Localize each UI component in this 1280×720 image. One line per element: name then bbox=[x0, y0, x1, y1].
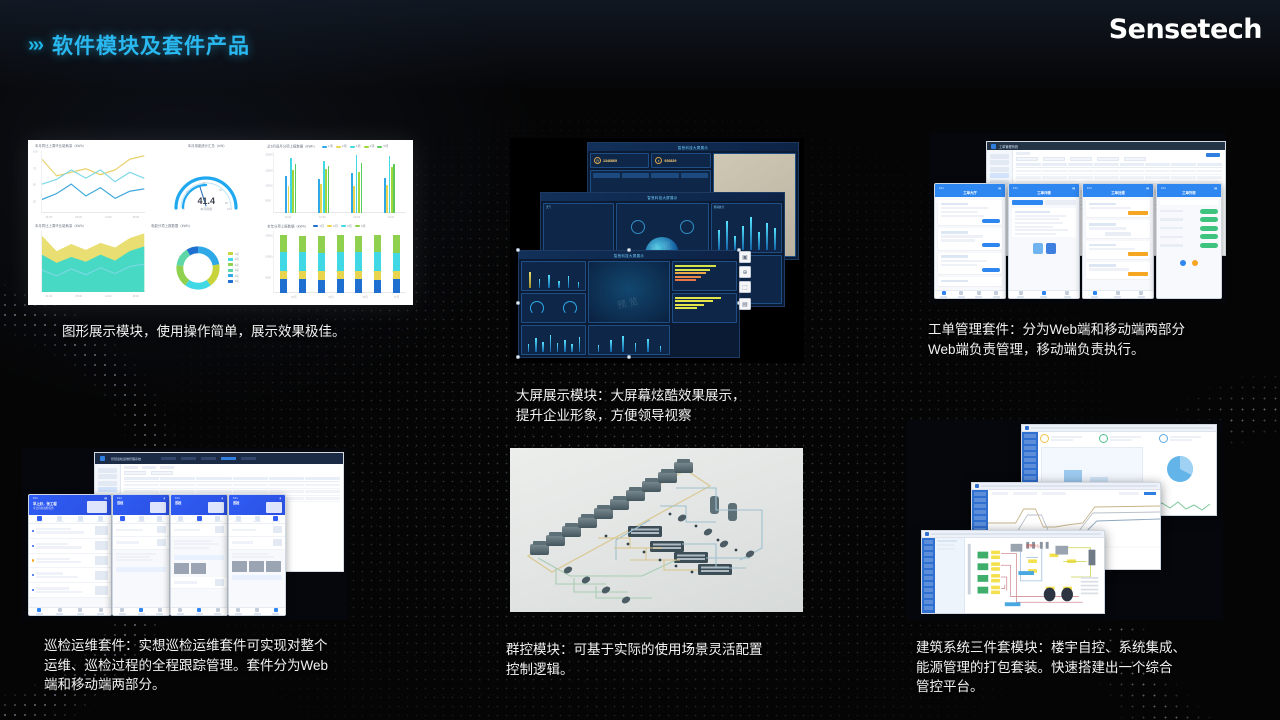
tab-orders[interactable] bbox=[1106, 291, 1129, 298]
zoom-tool-icon[interactable]: ⊕ bbox=[739, 266, 751, 278]
nav-item[interactable] bbox=[201, 457, 216, 460]
x-tick: 06:00 bbox=[75, 216, 82, 219]
confirm-icon[interactable] bbox=[1180, 260, 1186, 266]
map-panel bbox=[588, 261, 670, 323]
mobile-tabbar[interactable] bbox=[1009, 290, 1079, 298]
list-item[interactable] bbox=[229, 537, 285, 550]
mobile-header: 9:41▮ 巡检 bbox=[229, 495, 285, 515]
thumbnail bbox=[95, 571, 108, 580]
secondary-button[interactable] bbox=[1105, 232, 1131, 236]
tab-task[interactable] bbox=[190, 608, 209, 615]
tab-tasks[interactable] bbox=[132, 515, 151, 523]
bar-segment bbox=[280, 271, 287, 280]
primary-action-button[interactable] bbox=[1206, 153, 1220, 157]
selection-handle[interactable] bbox=[516, 248, 520, 252]
mobile-tabbar[interactable] bbox=[29, 607, 111, 615]
tab-more[interactable] bbox=[91, 515, 112, 523]
status-bar: 9:41▮▮ bbox=[939, 187, 1001, 190]
kpi-2: ◐926829 bbox=[652, 154, 709, 167]
bar-panel: 能耗统计 bbox=[711, 203, 782, 253]
tab-records[interactable] bbox=[70, 515, 91, 523]
photo-thumb[interactable] bbox=[249, 561, 264, 572]
list-item[interactable] bbox=[171, 577, 227, 590]
x-tick: 12:00 bbox=[105, 295, 112, 298]
mobile-body bbox=[1009, 197, 1079, 257]
action-row[interactable] bbox=[1160, 260, 1218, 266]
filter-bar[interactable] bbox=[124, 471, 340, 475]
toolbar[interactable] bbox=[988, 490, 1160, 497]
mobile-tabs[interactable] bbox=[171, 515, 227, 524]
sidebar-item[interactable] bbox=[1024, 458, 1036, 463]
work-order-card[interactable] bbox=[938, 253, 1002, 274]
work-order-suite-screenshot[interactable]: 工单管理系统 9:41▮▮ 工单大厅 bbox=[930, 133, 1226, 303]
status-badge bbox=[1128, 272, 1148, 276]
tab-tasks[interactable] bbox=[248, 515, 267, 523]
hbar-panel bbox=[672, 261, 737, 291]
tab-home[interactable] bbox=[935, 291, 953, 298]
photo-thumb[interactable] bbox=[266, 561, 281, 572]
legend-item: 6项 bbox=[228, 279, 239, 283]
patrol-mobile-3[interactable]: 9:41▮ 巡检 bbox=[170, 494, 228, 616]
bar-segment bbox=[337, 279, 344, 293]
list-item[interactable] bbox=[29, 568, 111, 583]
app-logo-icon bbox=[100, 456, 105, 461]
svg-text:100: 100 bbox=[227, 207, 232, 211]
list-item[interactable] bbox=[1160, 243, 1218, 248]
resize-tool-icon[interactable]: ⬚ bbox=[739, 281, 751, 293]
task-list bbox=[171, 524, 227, 589]
x-tick: 05月 bbox=[362, 295, 367, 299]
sidebar-item[interactable] bbox=[974, 492, 986, 497]
list-item[interactable] bbox=[1160, 209, 1218, 214]
tab-me[interactable] bbox=[91, 608, 112, 615]
sidebar-item[interactable] bbox=[1024, 452, 1036, 457]
status-badge bbox=[1200, 217, 1218, 222]
filter-bar[interactable] bbox=[1016, 157, 1222, 161]
sidebar-item[interactable] bbox=[974, 498, 986, 503]
ring-icon bbox=[1040, 434, 1049, 443]
segmented-control[interactable] bbox=[1012, 200, 1076, 205]
kpi-value: 1346869 bbox=[603, 159, 617, 163]
sidebar-item[interactable] bbox=[974, 516, 986, 521]
dashboard-grid: 本月同比上周环比能耗量（kWh） 100 75 50 25 01:00 06:0… bbox=[28, 140, 413, 305]
sidebar-item[interactable] bbox=[924, 546, 933, 551]
window-titlebar bbox=[922, 531, 1104, 538]
action-button[interactable] bbox=[116, 567, 166, 572]
bar-group bbox=[351, 152, 362, 214]
bar-segment bbox=[337, 235, 344, 252]
legend-item: 2项 bbox=[336, 145, 347, 148]
legend: 1月 2月 3月 4月 bbox=[313, 225, 366, 228]
thumbnail bbox=[273, 526, 282, 533]
building-system-screenshot[interactable]: 报警中心 bbox=[907, 420, 1223, 620]
mobile-tabs[interactable] bbox=[113, 515, 169, 524]
tab-bar[interactable] bbox=[124, 466, 340, 469]
tab-tasks[interactable] bbox=[50, 515, 71, 523]
weather-panel: 天气 bbox=[543, 203, 614, 253]
mobile-header: 9:41▮ 巡检 bbox=[171, 495, 227, 515]
bar-segment bbox=[318, 253, 325, 271]
svg-text:0: 0 bbox=[183, 207, 185, 211]
status-badge bbox=[1128, 211, 1148, 215]
photo-thumb[interactable] bbox=[191, 563, 206, 574]
tab-home[interactable] bbox=[113, 608, 132, 615]
legend-item: 1项 bbox=[322, 145, 333, 148]
tab-profile[interactable] bbox=[1130, 291, 1153, 298]
svg-text:60: 60 bbox=[219, 188, 223, 192]
mobile-title: 工单处理 bbox=[1087, 190, 1149, 195]
panel-title: 近6月逐月分项上报数据（kWh） 1项 2项 3项 4项 5项 bbox=[267, 145, 408, 149]
sidebar-item[interactable] bbox=[924, 606, 933, 611]
inspection-suite-screenshot[interactable]: 智慧巡检运维管理系统 9:41▮▮ bbox=[22, 448, 347, 620]
mobile-screen-1[interactable]: 9:41▮▮ 工单大厅 bbox=[934, 183, 1006, 299]
tab-inspection[interactable] bbox=[29, 515, 50, 523]
accept-button[interactable] bbox=[982, 268, 1000, 272]
sidebar-item[interactable] bbox=[924, 600, 933, 605]
selection-handle[interactable] bbox=[516, 355, 520, 359]
sidebar-item[interactable] bbox=[98, 481, 117, 486]
ring-icon bbox=[680, 220, 694, 234]
status-bar: 9:41▮▮ bbox=[1161, 187, 1217, 190]
svg-text:80: 80 bbox=[225, 201, 229, 205]
mobile-screen-2[interactable]: 9:41▮▮ 工单详情 bbox=[1008, 183, 1080, 299]
bar-segment bbox=[299, 252, 306, 271]
legend-item: 3月 bbox=[341, 225, 352, 228]
gauge-value: 41.4 bbox=[197, 196, 215, 206]
action-button[interactable] bbox=[232, 575, 282, 580]
mobile-tabs[interactable] bbox=[29, 515, 111, 524]
sidebar-item[interactable] bbox=[1024, 476, 1036, 481]
sidebar-item[interactable] bbox=[1024, 446, 1036, 451]
illustration bbox=[87, 501, 107, 513]
sidebar-item[interactable] bbox=[974, 522, 986, 527]
sidebar-item[interactable] bbox=[1024, 440, 1036, 445]
bar-segment bbox=[355, 279, 362, 293]
gauge-icon bbox=[530, 301, 544, 315]
thumbnail bbox=[157, 539, 166, 546]
task-list bbox=[29, 524, 111, 598]
sidebar-item[interactable] bbox=[924, 564, 933, 569]
task-row[interactable] bbox=[1086, 220, 1150, 238]
sidebar-item[interactable] bbox=[924, 576, 933, 581]
mobile-tabbar[interactable] bbox=[171, 607, 227, 615]
status-bar: 9:41▮ bbox=[175, 497, 223, 500]
tab-orders[interactable] bbox=[953, 291, 971, 298]
stacked-series bbox=[274, 231, 406, 293]
list-item[interactable] bbox=[29, 554, 111, 569]
caption-inspection: 巡检运维套件：实想巡检运维套件可实现对整个 运维、巡检过程的全程跟踪管理。套件分… bbox=[44, 636, 404, 695]
task-row[interactable] bbox=[1086, 200, 1150, 217]
work-order-card[interactable] bbox=[938, 200, 1002, 225]
patrol-mobile-4[interactable]: 9:41▮ 巡检 bbox=[228, 494, 286, 616]
status-bar: 9:41▮▮ bbox=[1013, 187, 1075, 190]
bar-segment bbox=[318, 236, 325, 253]
mobile-tabbar[interactable] bbox=[113, 607, 169, 615]
sidebar-item[interactable] bbox=[924, 558, 933, 563]
list-item[interactable] bbox=[229, 524, 285, 537]
sidebar-item[interactable] bbox=[1024, 464, 1036, 469]
panel-grouped-bar: 近6月逐月分项上报数据（kWh） 1项 2项 3项 4项 5项 20000 15… bbox=[265, 144, 408, 222]
svg-text:20: 20 bbox=[186, 190, 190, 194]
thumbnail bbox=[215, 579, 224, 586]
tab-profile[interactable] bbox=[1056, 291, 1079, 298]
y-tick: 5000 bbox=[265, 200, 271, 203]
pumps-dark bbox=[1044, 588, 1073, 602]
sidebar-item[interactable] bbox=[924, 540, 933, 545]
photo-thumb[interactable] bbox=[174, 563, 189, 574]
pipe-blue bbox=[1020, 546, 1041, 581]
table-row[interactable] bbox=[1016, 175, 1222, 182]
sidebar-item[interactable] bbox=[924, 588, 933, 593]
thumbnail bbox=[95, 586, 108, 595]
panel-title: 天气 bbox=[546, 205, 613, 209]
action-button[interactable] bbox=[174, 555, 224, 560]
patrol-mobile-2[interactable]: 9:41▮ 巡检 bbox=[112, 494, 170, 616]
tab-me[interactable] bbox=[266, 608, 285, 615]
mobile-tabbar[interactable] bbox=[935, 290, 1005, 298]
mobile-screen-3[interactable]: 9:41▮▮ 工单处理 bbox=[1082, 183, 1154, 299]
sidebar-item[interactable] bbox=[974, 510, 986, 515]
panel-title: 本年分项上报数据（kWh） 1月 2月 3月 4月 bbox=[267, 225, 408, 229]
title-row: ››› 软件模块及套件产品 bbox=[28, 30, 250, 60]
patrol-mobile-1[interactable]: 9:41▮▮ 早上好，张工程 今日待办巡检任务 bbox=[28, 494, 112, 616]
y-tick: 5000 bbox=[265, 276, 271, 279]
illustration bbox=[150, 502, 166, 513]
x-tick: 07月 bbox=[394, 295, 399, 299]
selection-handle[interactable] bbox=[627, 355, 631, 359]
x-tick: 03月 bbox=[328, 295, 333, 299]
sidebar-item[interactable] bbox=[990, 167, 1009, 172]
tab-inspection[interactable] bbox=[113, 515, 132, 523]
page-title: 软件模块及套件产品 bbox=[52, 30, 250, 60]
accept-button[interactable] bbox=[982, 243, 1000, 247]
group-control-diagram[interactable] bbox=[510, 448, 803, 612]
panel-title: 本月同比上周环比能耗量（kWh） bbox=[35, 145, 147, 148]
sidebar[interactable] bbox=[922, 538, 935, 613]
y-tick: 15000 bbox=[265, 169, 272, 172]
nav-item[interactable] bbox=[181, 457, 196, 460]
mini-bars bbox=[715, 210, 779, 250]
sidebar-item-active[interactable] bbox=[98, 487, 117, 492]
mobile-tabbar[interactable] bbox=[1083, 290, 1153, 298]
status-badge bbox=[1200, 209, 1218, 214]
sidebar-item-active[interactable] bbox=[990, 173, 1009, 178]
bar bbox=[295, 164, 297, 213]
sidebar-item[interactable] bbox=[974, 504, 986, 509]
sidebar-item[interactable] bbox=[990, 154, 1009, 159]
y-tick: 25 bbox=[33, 201, 36, 204]
sidebar-item[interactable] bbox=[924, 594, 933, 599]
sidebar-item[interactable] bbox=[1024, 434, 1036, 439]
bar-group bbox=[384, 152, 395, 214]
kpi-1: ◷1346869 bbox=[591, 154, 648, 167]
task-list bbox=[229, 524, 285, 580]
thumbnail bbox=[95, 541, 108, 550]
bar bbox=[386, 185, 388, 213]
hbars bbox=[673, 262, 736, 284]
x-tick: 01:00 bbox=[46, 216, 53, 219]
gauge-icon bbox=[563, 301, 577, 315]
photo-row bbox=[229, 561, 285, 572]
tab-home[interactable] bbox=[1083, 291, 1106, 298]
tab-tasks[interactable] bbox=[190, 515, 209, 523]
mobile-tabs[interactable] bbox=[229, 515, 285, 524]
bar-segment bbox=[374, 252, 381, 270]
bar bbox=[325, 169, 327, 214]
tab-home[interactable] bbox=[29, 608, 50, 615]
status-bar: 9:41▮ bbox=[233, 497, 281, 500]
list-item[interactable] bbox=[29, 539, 111, 554]
tab-home[interactable] bbox=[1009, 291, 1032, 298]
legend-item: 5项 bbox=[377, 145, 388, 148]
tab-me[interactable] bbox=[208, 608, 227, 615]
sidebar-item[interactable] bbox=[990, 160, 1009, 165]
tab-records[interactable] bbox=[150, 515, 169, 523]
selection-handle[interactable] bbox=[627, 248, 631, 252]
list-item[interactable] bbox=[113, 537, 169, 550]
mobile-screen-4[interactable]: 9:41▮▮ 工单列表 bbox=[1156, 183, 1222, 299]
tab-profile[interactable] bbox=[988, 291, 1006, 298]
stacked-bar bbox=[299, 231, 306, 293]
table-row[interactable] bbox=[124, 482, 340, 489]
ring-icon bbox=[631, 220, 645, 234]
y-tick: 15000 bbox=[265, 235, 272, 238]
tab-task[interactable] bbox=[50, 608, 71, 615]
nav-item[interactable] bbox=[241, 457, 256, 460]
graphic-display-module-screenshot[interactable]: 本月同比上周环比能耗量（kWh） 100 75 50 25 01:00 06:0… bbox=[28, 140, 413, 305]
bar bbox=[358, 172, 360, 214]
ahu-units bbox=[978, 552, 989, 594]
tab-inspection[interactable] bbox=[171, 515, 190, 523]
stacked-bar bbox=[280, 231, 287, 293]
search-input[interactable] bbox=[1160, 200, 1218, 205]
x-tick: 18:00 bbox=[132, 295, 139, 298]
app-logo-icon bbox=[975, 484, 979, 488]
caption-group-control: 群控模块：可基于实际的使用场景灵活配置 控制逻辑。 bbox=[506, 640, 826, 679]
tab-stats[interactable] bbox=[970, 291, 988, 298]
pie-svg bbox=[1163, 452, 1197, 486]
list-item[interactable] bbox=[1160, 226, 1218, 231]
sidebar-item[interactable] bbox=[924, 582, 933, 587]
bar-segment bbox=[318, 271, 325, 280]
list-item[interactable] bbox=[113, 524, 169, 537]
sidebar-item[interactable] bbox=[924, 552, 933, 557]
area-series-svg bbox=[42, 231, 145, 293]
top-nav[interactable] bbox=[161, 457, 256, 460]
mini-bars bbox=[592, 332, 667, 352]
crop-tool-icon[interactable]: ▣ bbox=[739, 251, 751, 263]
app-logo-icon bbox=[1025, 426, 1029, 430]
tab-me[interactable] bbox=[150, 608, 169, 615]
bar-segment bbox=[318, 280, 325, 293]
work-order-card[interactable] bbox=[938, 228, 1002, 249]
page-header: ››› 软件模块及套件产品 Sensetech bbox=[0, 0, 1280, 70]
status-bar: 9:41▮ bbox=[117, 497, 165, 500]
photo-thumb[interactable] bbox=[232, 561, 247, 572]
tab-bar[interactable] bbox=[1016, 152, 1222, 155]
list-item[interactable] bbox=[1160, 234, 1218, 239]
brand-logo: Sensetech bbox=[1109, 14, 1262, 45]
x-tick: 10-04 bbox=[388, 216, 395, 219]
donut-legend: 1项 2项 3项 4项 5项 6项 bbox=[228, 252, 239, 284]
stacked-bar bbox=[337, 231, 344, 293]
nav-item[interactable] bbox=[161, 457, 176, 460]
list-item[interactable] bbox=[29, 583, 111, 598]
list-item[interactable] bbox=[29, 524, 111, 539]
tab-orders[interactable] bbox=[1032, 291, 1055, 298]
sidebar-item[interactable] bbox=[1024, 470, 1036, 475]
bar-segment bbox=[280, 252, 287, 270]
bar-series bbox=[274, 152, 406, 214]
window-title: 智慧巡检运维管理系统 bbox=[111, 457, 141, 461]
sidebar-item[interactable] bbox=[98, 474, 117, 479]
tab-task[interactable] bbox=[248, 608, 267, 615]
line-series-svg bbox=[42, 151, 145, 213]
table-row[interactable] bbox=[1016, 168, 1222, 175]
legend-item: 1月 bbox=[313, 225, 324, 228]
tab-records[interactable] bbox=[266, 515, 285, 523]
bar-panel bbox=[521, 261, 586, 291]
panel-line-chart: 本月同比上周环比能耗量（kWh） 100 75 50 25 01:00 06:0… bbox=[33, 144, 147, 222]
bar bbox=[353, 186, 355, 213]
gauges-panel bbox=[521, 293, 586, 323]
bigscreen-window-front[interactable]: 智慧科技大屏展示 bbox=[518, 250, 740, 358]
list-item[interactable] bbox=[171, 524, 227, 537]
task-row[interactable] bbox=[1086, 241, 1150, 258]
sidebar-item[interactable] bbox=[924, 570, 933, 575]
bigscreen-title: 智慧科技大屏展示 bbox=[588, 143, 798, 151]
caption-work-order: 工单管理套件：分为Web端和移动端两部分 Web端负责管理，移动端负责执行。 bbox=[928, 320, 1258, 359]
window-titlebar: 工单管理系统 bbox=[987, 142, 1225, 150]
task-row[interactable] bbox=[1086, 262, 1150, 279]
sidebar-item[interactable] bbox=[98, 468, 117, 473]
y-tick: 100 bbox=[33, 151, 37, 154]
bigscreen-title: 智慧科技大屏展示 bbox=[541, 193, 784, 201]
nav-item-active[interactable] bbox=[221, 457, 236, 460]
status-bar: 9:41▮▮ bbox=[1087, 187, 1149, 190]
bas-schematic-window[interactable]: 报警中心 bbox=[921, 530, 1105, 614]
illustration bbox=[1012, 243, 1076, 254]
tab-home[interactable] bbox=[171, 608, 190, 615]
selection-handle[interactable] bbox=[516, 301, 520, 305]
accept-button[interactable] bbox=[982, 219, 1000, 223]
big-screen-module-screenshot[interactable]: 智慧科技大屏展示 ◷1346869 ◐926829 智慧科技大屏展示 天气 bbox=[510, 138, 804, 363]
schematic-canvas[interactable]: 报警中心 bbox=[965, 538, 1104, 613]
tab-inspection[interactable] bbox=[229, 515, 248, 523]
bar-segment bbox=[374, 280, 381, 293]
bar-segment bbox=[299, 271, 306, 279]
warn-icon[interactable] bbox=[1192, 260, 1198, 266]
panel-donut-chart: 电能分项上报数据（kWh） 1项 2项 3项 4项 5项 6项 bbox=[149, 224, 263, 302]
tab-msg[interactable] bbox=[70, 608, 91, 615]
x-tick: 10-02 bbox=[319, 216, 326, 219]
list-item[interactable] bbox=[1160, 217, 1218, 222]
tab-task[interactable] bbox=[132, 608, 151, 615]
legend-item: 4项 bbox=[228, 268, 239, 272]
mobile-tabbar[interactable] bbox=[229, 607, 285, 615]
tab-records[interactable] bbox=[208, 515, 227, 523]
save-tool-icon[interactable]: ▤ bbox=[739, 298, 751, 310]
scada-svg: 报警中心 bbox=[965, 538, 1104, 613]
x-tick: 01月 bbox=[291, 295, 296, 299]
detail-block bbox=[171, 537, 227, 552]
bigscreen-body bbox=[519, 259, 739, 357]
x-tick: 01:00 bbox=[46, 295, 53, 298]
work-order-card[interactable] bbox=[938, 277, 1002, 286]
tab-home[interactable] bbox=[229, 608, 248, 615]
tree-panel[interactable] bbox=[935, 538, 965, 613]
svg-text:报警中心: 报警中心 bbox=[1026, 543, 1040, 548]
